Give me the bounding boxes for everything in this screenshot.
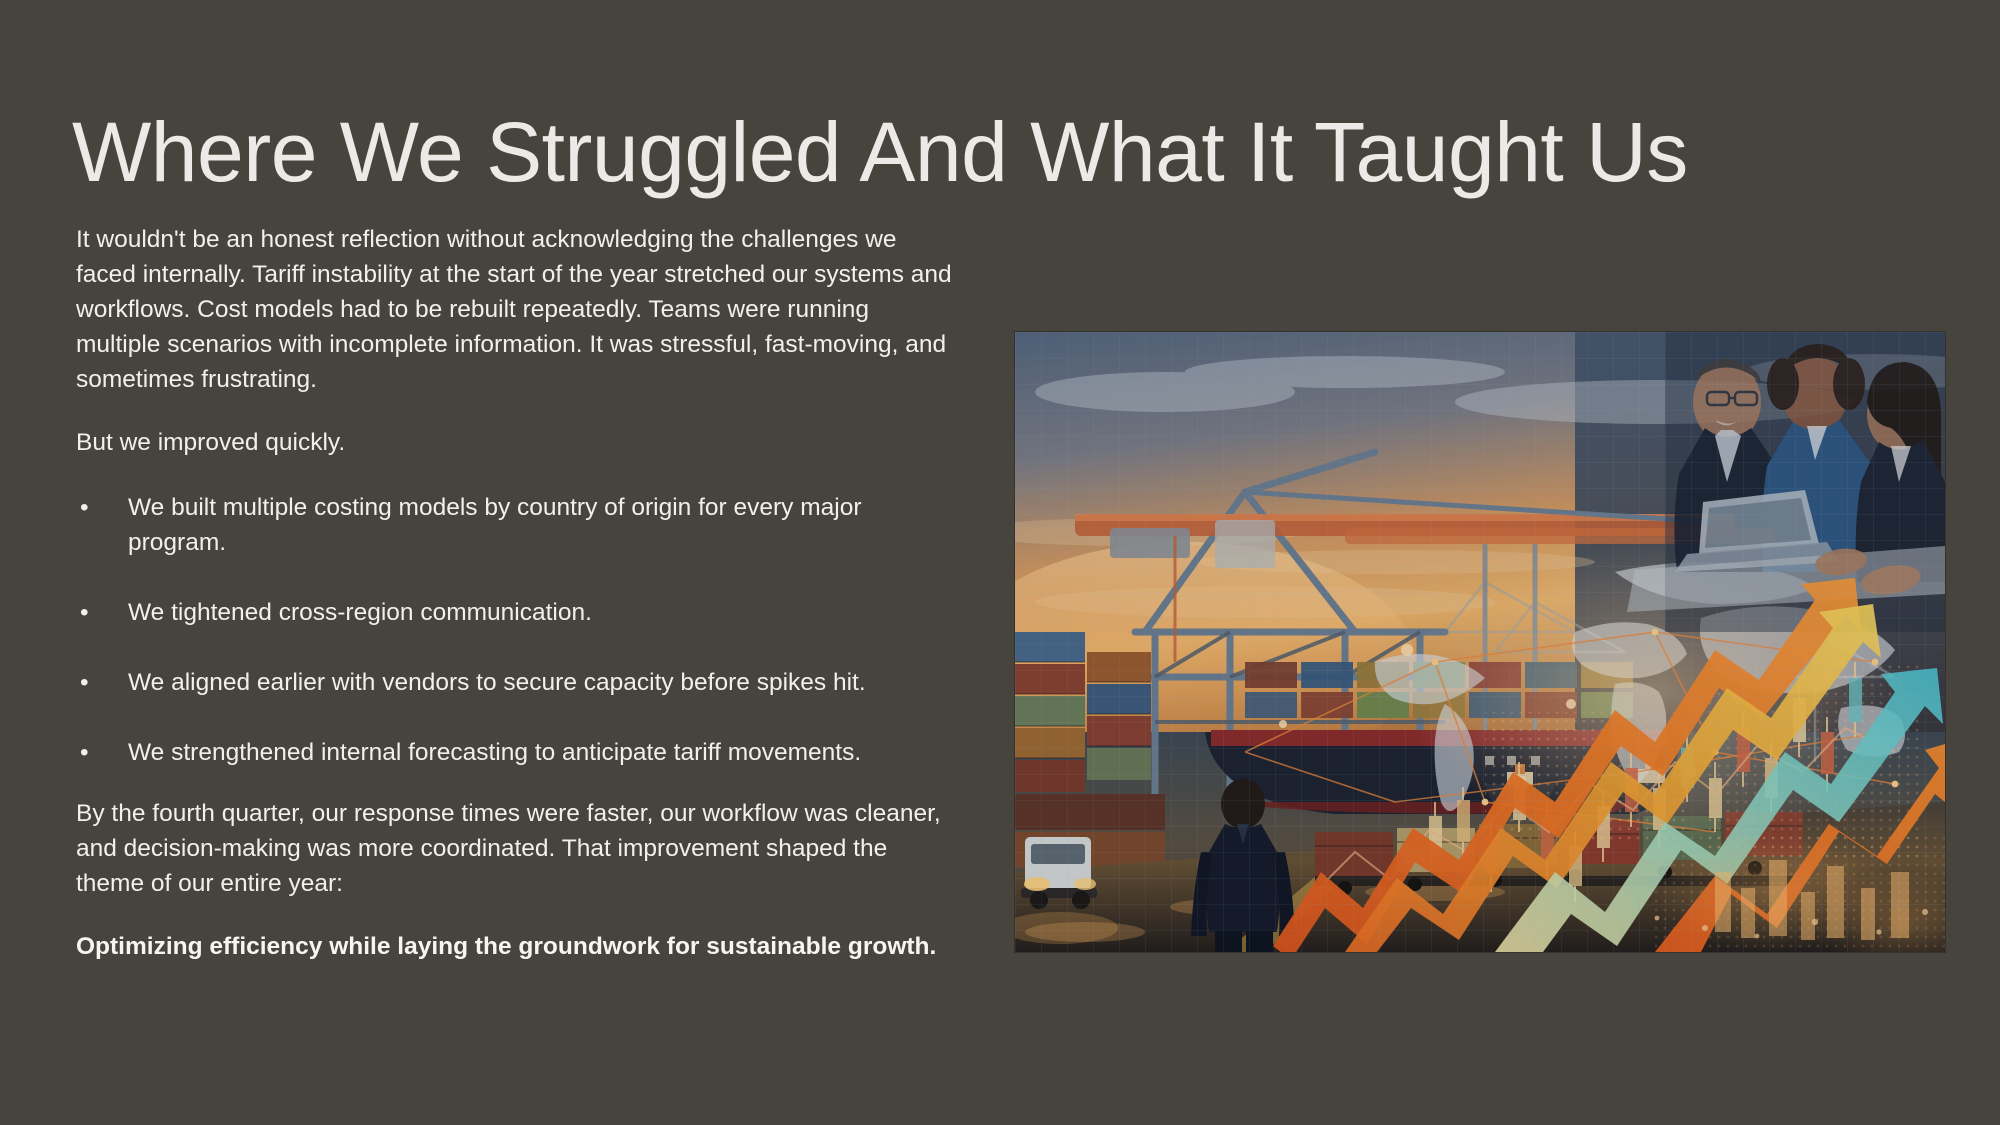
list-item: • We aligned earlier with vendors to sec… [76, 665, 956, 700]
logistics-composite-illustration [1015, 332, 1945, 952]
lead-in-paragraph: But we improved quickly. [76, 425, 956, 460]
bullet-point-icon: • [80, 735, 89, 770]
bullet-point-icon: • [80, 665, 89, 700]
list-item-label: We aligned earlier with vendors to secur… [128, 669, 866, 696]
global-logistics-growth-image [1015, 332, 1945, 952]
list-item: • We strengthened internal forecasting t… [76, 735, 956, 770]
list-item-label: We strengthened internal forecasting to … [128, 739, 861, 766]
closing-paragraph: By the fourth quarter, our response time… [76, 796, 956, 901]
intro-paragraph: It wouldn't be an honest reflection with… [76, 222, 956, 397]
improvements-bullet-list: • We built multiple costing models by co… [76, 490, 956, 770]
bullet-point-icon: • [80, 490, 89, 525]
page-title: Where We Struggled And What It Taught Us [72, 108, 1688, 197]
emphasis-statement: Optimizing efficiency while laying the g… [76, 929, 956, 964]
slide-canvas: Where We Struggled And What It Taught Us… [0, 0, 2000, 1125]
list-item: • We built multiple costing models by co… [76, 490, 956, 560]
list-item-label: We built multiple costing models by coun… [128, 494, 862, 556]
body-text-column: It wouldn't be an honest reflection with… [76, 222, 956, 964]
bullet-point-icon: • [80, 595, 89, 630]
list-item: • We tightened cross-region communicatio… [76, 595, 956, 630]
list-item-label: We tightened cross-region communication. [128, 599, 592, 626]
